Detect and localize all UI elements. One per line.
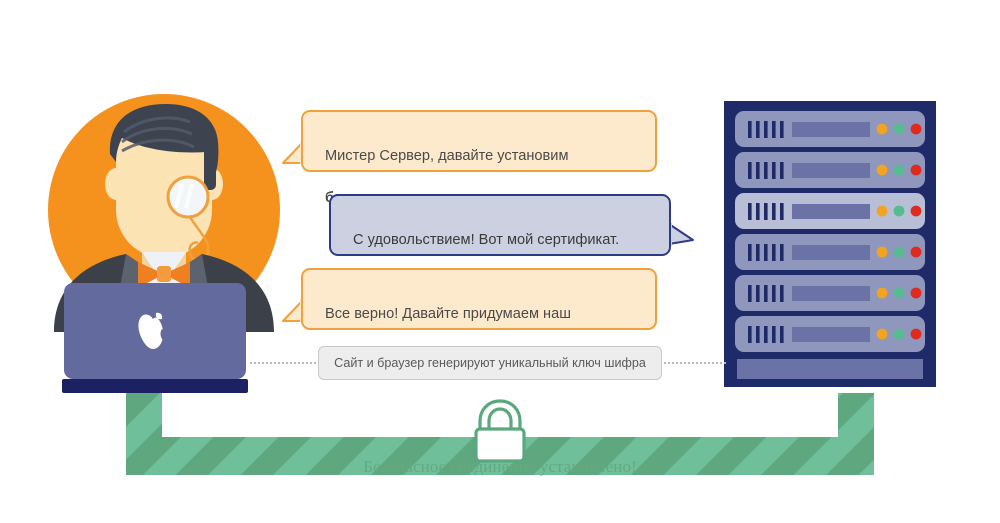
padlock-icon: [463, 397, 537, 463]
led-green: [894, 165, 905, 176]
server-unit-highlighted: [735, 193, 925, 229]
led-red: [911, 206, 922, 217]
infographic-canvas: Мистер Сервер, давайте установим безопас…: [0, 0, 1000, 523]
bubble-2-line-1: С удовольствием! Вот мой сертификат.: [353, 230, 649, 251]
speech-bubble-client-1: Мистер Сервер, давайте установим безопас…: [301, 110, 657, 172]
led-amber: [877, 165, 888, 176]
laptop: [62, 283, 248, 395]
speech-bubble-client-2: Все верно! Давайте придумаем наш секретн…: [301, 268, 657, 330]
drive-slot: [792, 122, 870, 137]
led-green: [894, 206, 905, 217]
led-amber: [877, 329, 888, 340]
led-red: [911, 247, 922, 258]
drive-slot: [792, 204, 870, 219]
bubble-3-line-1: Все верно! Давайте придумаем наш: [325, 304, 635, 325]
led-amber: [877, 247, 888, 258]
connector-dotted-right: [660, 362, 726, 364]
led-red: [911, 288, 922, 299]
bubble-1-line-1: Мистер Сервер, давайте установим: [325, 146, 635, 167]
led-amber: [877, 288, 888, 299]
led-red: [911, 329, 922, 340]
server-unit: [735, 111, 925, 147]
server-unit: [735, 275, 925, 311]
led-amber: [877, 206, 888, 217]
connector-dotted-left: [250, 362, 320, 364]
rack-bottom-panel: [737, 359, 923, 379]
laptop-base: [62, 379, 248, 393]
led-green: [894, 124, 905, 135]
server-unit: [735, 152, 925, 188]
led-amber: [877, 124, 888, 135]
led-red: [911, 124, 922, 135]
drive-slot: [792, 163, 870, 178]
bowtie-knot: [157, 266, 171, 282]
drive-slot: [792, 245, 870, 260]
key-generation-note: Сайт и браузер генерируют уникальный клю…: [318, 346, 662, 380]
server-rack: [724, 101, 936, 387]
server-unit: [735, 316, 925, 352]
key-generation-note-text: Сайт и браузер генерируют уникальный клю…: [334, 356, 646, 370]
led-green: [894, 288, 905, 299]
server-unit: [735, 234, 925, 270]
led-green: [894, 329, 905, 340]
led-green: [894, 247, 905, 258]
caption: Безопасное соединение установлено!: [0, 457, 1000, 477]
sideburn: [204, 146, 216, 190]
led-red: [911, 165, 922, 176]
drive-slot: [792, 327, 870, 342]
drive-slot: [792, 286, 870, 301]
speech-bubble-server-1: С удовольствием! Вот мой сертификат. Убе…: [329, 194, 671, 256]
